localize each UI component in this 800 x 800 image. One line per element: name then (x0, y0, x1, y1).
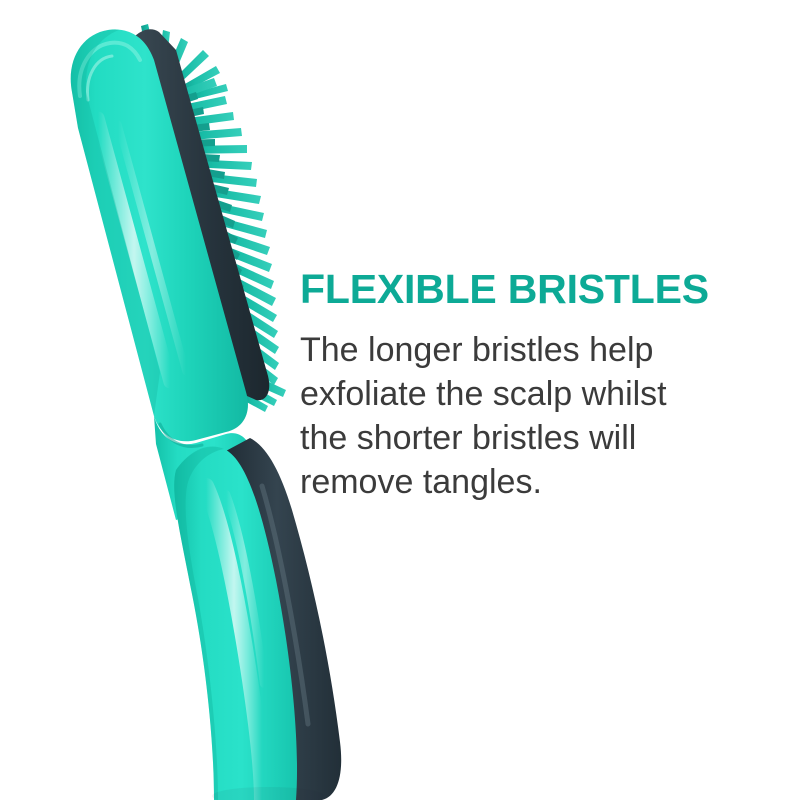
feature-description-line-1: The longer bristles help (300, 328, 770, 372)
feature-description-line-4: remove tangles. (300, 460, 770, 504)
feature-description-line-2: exfoliate the scalp whilst (300, 372, 770, 416)
feature-text-block: FLEXIBLE BRISTLES The longer bristles he… (300, 268, 770, 504)
feature-description-line-3: the shorter bristles will (300, 416, 770, 460)
feature-description: The longer bristles help exfoliate the s… (300, 311, 770, 504)
feature-heading: FLEXIBLE BRISTLES (300, 268, 770, 311)
product-feature-card: FLEXIBLE BRISTLES The longer bristles he… (0, 0, 800, 800)
